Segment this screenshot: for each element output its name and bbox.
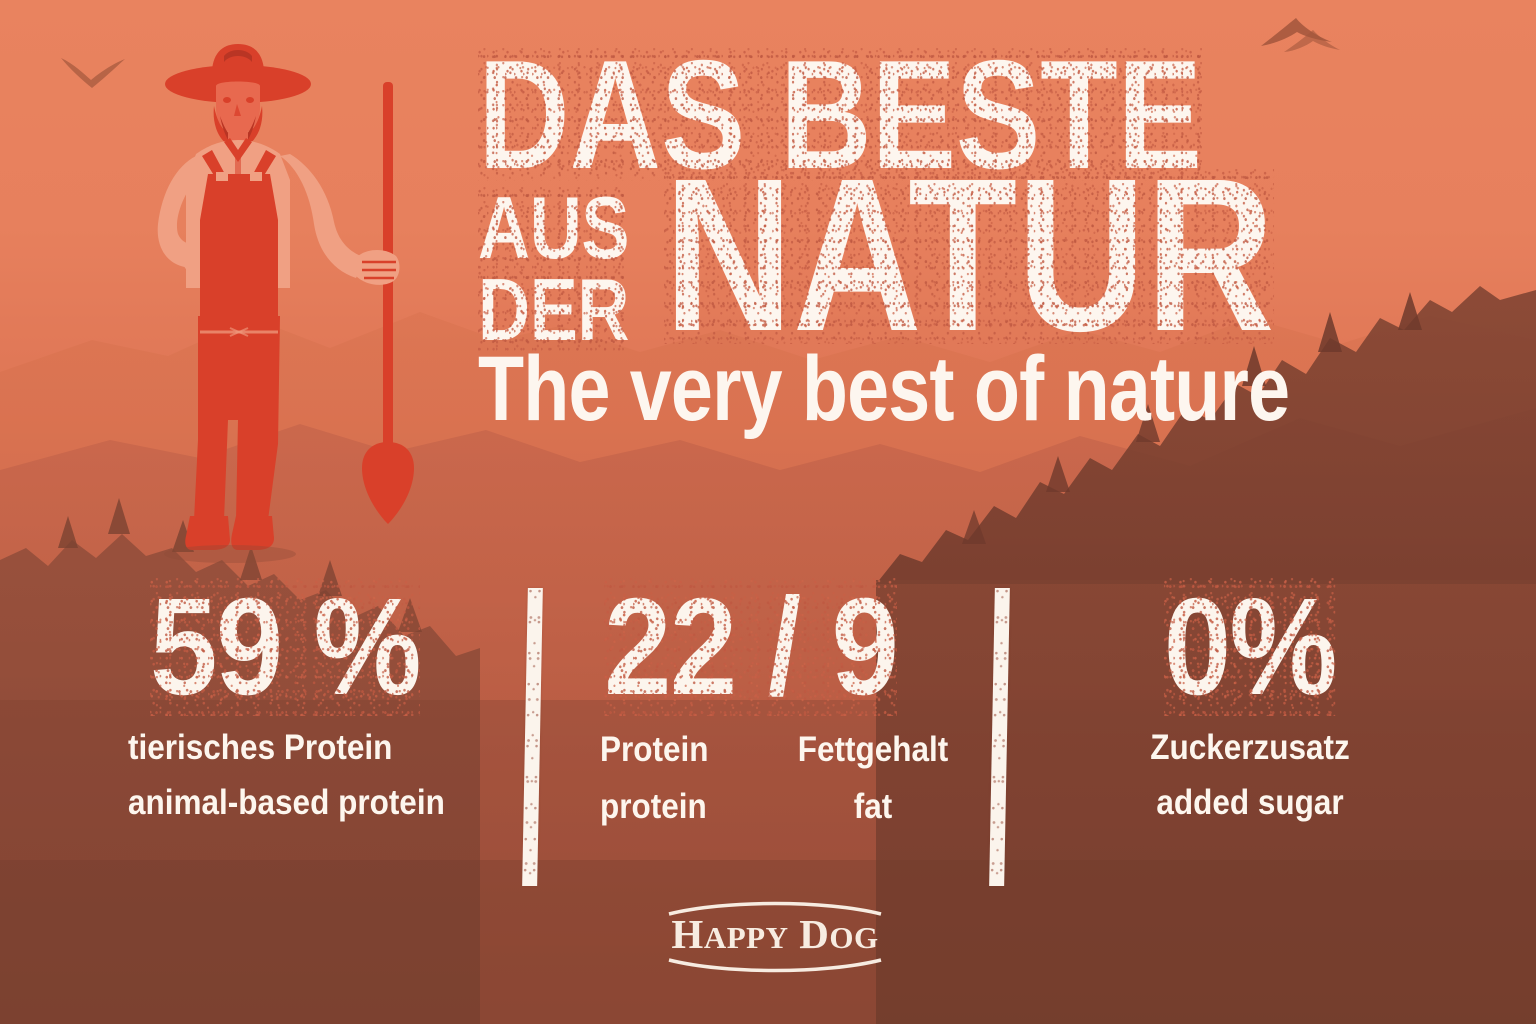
stats-divider [989,588,1010,886]
logo-h: H [671,911,703,957]
stat-value: 59 % [150,578,420,716]
stat-label-de: Protein [600,728,760,773]
happy-dog-logo: HAPPY DOG [655,898,895,974]
stat-value: 0% [1164,578,1336,716]
headline-aus: AUS [478,187,629,269]
headline-block: DAS BESTE AUS DER NATUR The very best of… [478,48,1348,435]
headline-small-stack: AUS DER [478,187,662,351]
farmer-illustration [100,20,460,580]
logo-wordmark: HAPPY DOG [655,914,895,955]
stats-divider [522,588,543,886]
stat-label2-de: Fettgehalt [788,728,959,773]
poster-canvas: DAS BESTE AUS DER NATUR The very best of… [0,0,1536,1024]
headline-natur: NATUR [664,169,1274,343]
stat-item-protein-share: 59 % tierisches Protein animal-based pro… [128,578,508,826]
divider-texture [989,588,1010,886]
logo-d: D [799,911,829,957]
stat-label-row-de: Protein Fettgehalt [600,728,980,773]
divider-texture [522,588,543,886]
stat-label-row-en: protein fat [600,785,980,830]
stat-value: 22 / 9 [604,578,897,716]
stat-label-en: protein [600,785,760,830]
stat-label2-en: fat [788,785,959,830]
headline-line-2: AUS DER NATUR [478,187,1348,351]
stat-item-added-sugar: 0% Zuckerzusatz added sugar [1050,578,1450,826]
stat-label-en: animal-based protein [128,781,470,826]
headline-subtitle: The very best of nature [478,343,1191,435]
stat-label-de: tierisches Protein [128,726,470,771]
logo-og: OG [829,920,878,955]
stats-row: 59 % tierisches Protein animal-based pro… [0,578,1536,908]
stat-label-en: added sugar [1070,781,1430,826]
logo-appy: APPY [704,920,789,955]
stat-label-de: Zuckerzusatz [1070,726,1430,771]
stat-item-protein-fat: 22 / 9 Protein Fettgehalt protein fat [600,578,980,830]
